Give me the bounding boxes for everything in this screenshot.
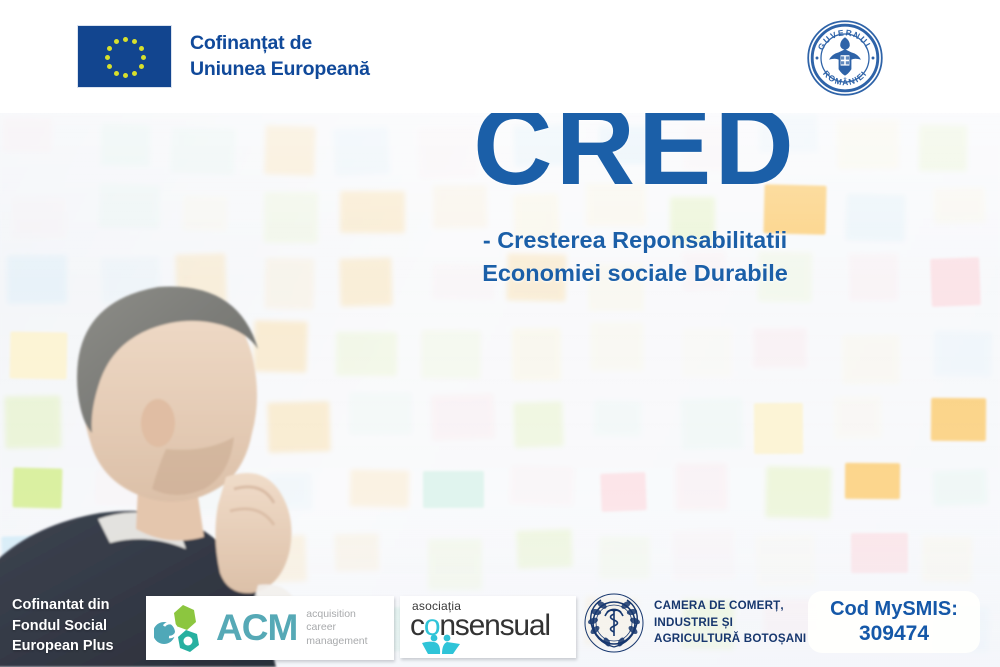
eu-star-icon <box>141 55 146 60</box>
eu-cofinancing-logo: Cofinanțat de Uniunea Europeană <box>77 25 370 88</box>
eu-star-icon <box>105 55 110 60</box>
page-subtitle: - Cresterea Reponsabilitatii Economiei s… <box>420 224 850 290</box>
presentation-slide: CRED - Cresterea Reponsabilitatii Econom… <box>0 0 1000 667</box>
romania-government-seal-icon: GUVERNUL ROMÂNIEI <box>805 18 885 98</box>
fund-text-line-3: European Plus <box>12 636 114 657</box>
subtitle-line-1: - Cresterea Reponsabilitatii <box>420 224 850 257</box>
eu-text-line-2: Uniunea Europeană <box>190 57 370 82</box>
eu-star-icon <box>139 64 144 69</box>
fund-text-line-1: Cofinantat din <box>12 595 114 616</box>
eu-text-line-1: Cofinanțat de <box>190 31 370 56</box>
subtitle-line-2: Economiei sociale Durabile <box>420 257 850 290</box>
eu-logo-text: Cofinanțat de Uniunea Europeană <box>190 31 370 82</box>
eu-star-icon <box>132 71 137 76</box>
header-band: Cofinanțat de Uniunea Europeană GUVERNUL <box>0 0 1000 113</box>
fund-cofinancing-text: Cofinantat din Fondul Social European Pl… <box>12 595 114 657</box>
eu-star-icon <box>123 37 128 42</box>
eu-flag-icon <box>77 25 172 88</box>
eu-star-icon <box>123 73 128 78</box>
eu-star-icon <box>114 71 119 76</box>
footer-bar: Cofinantat din Fondul Social European Pl… <box>0 585 1000 667</box>
title-block: CRED - Cresterea Reponsabilitatii Econom… <box>420 92 850 290</box>
eu-star-icon <box>139 46 144 51</box>
eu-star-icon <box>132 39 137 44</box>
eu-star-icon <box>107 64 112 69</box>
eu-star-icon <box>107 46 112 51</box>
fund-text-line-2: Fondul Social <box>12 616 114 637</box>
eu-star-icon <box>114 39 119 44</box>
